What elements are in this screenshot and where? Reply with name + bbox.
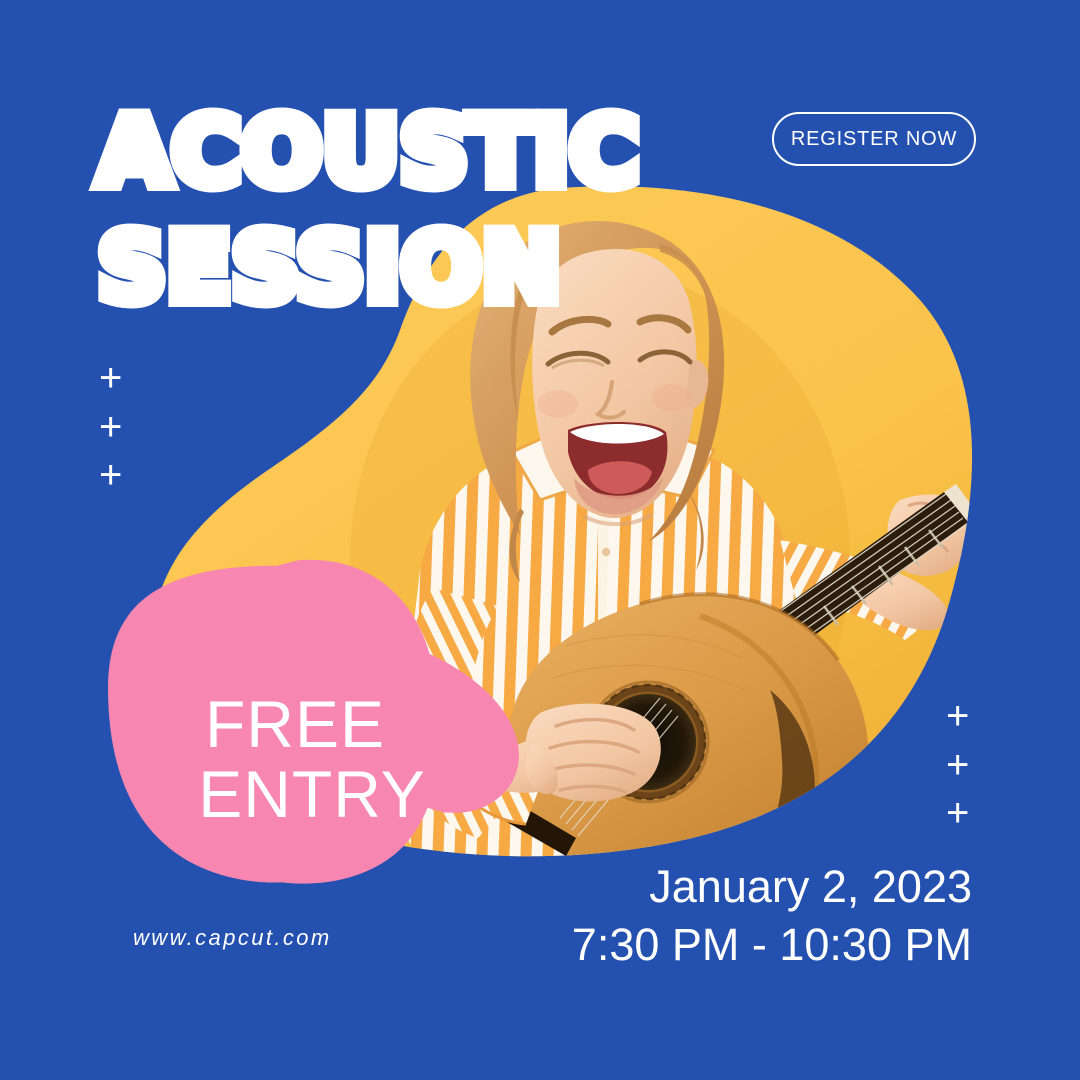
event-time: 7:30 PM - 10:30 PM [572,916,972,974]
register-now-button[interactable]: REGISTER NOW [772,112,976,166]
free-entry-line1: FREE [150,690,440,760]
plus-icon: + [946,696,969,736]
event-date: January 2, 2023 [572,858,972,916]
page-title-line1: ACOUSTIC [98,108,640,198]
free-entry-line2: ENTRY [150,760,440,830]
plus-icon: + [99,455,122,495]
event-datetime: January 2, 2023 7:30 PM - 10:30 PM [572,858,972,973]
plus-icon: + [99,407,122,447]
free-entry-badge: FREE ENTRY [150,690,440,830]
plus-icon: + [99,358,122,398]
website-url[interactable]: www.capcut.com [133,925,332,951]
page-title-line2: SESSION [98,224,562,314]
plus-icon: + [946,745,969,785]
poster-canvas: ACOUSTIC SESSION REGISTER NOW FREE ENTRY… [0,0,1080,1080]
plus-icon: + [946,793,969,833]
